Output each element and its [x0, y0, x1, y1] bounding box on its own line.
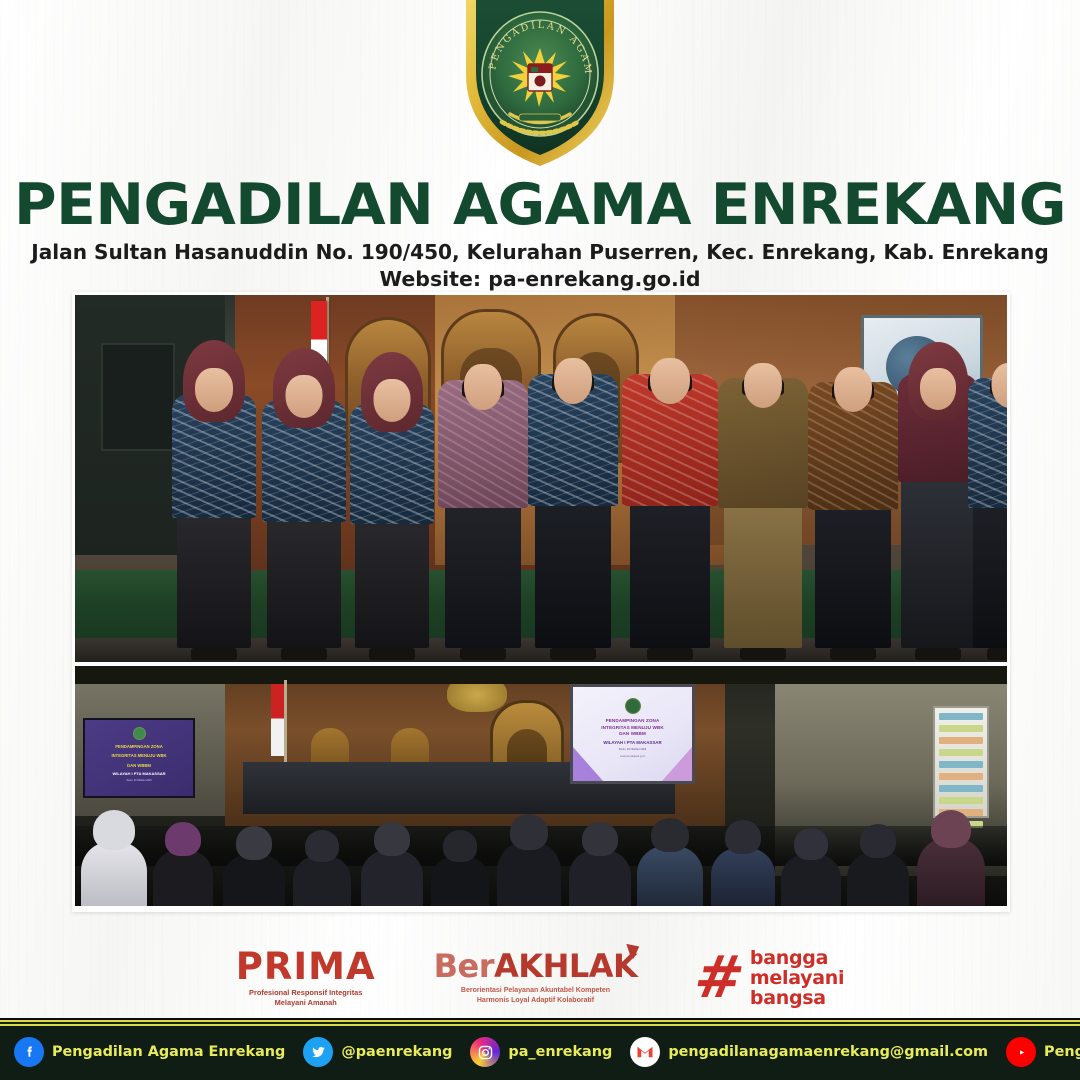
left-slide-line-4: WILAYAH I PTA MAKASSAR	[112, 771, 165, 776]
prima-logo: PRIMA Profesional Responsif Integritas M…	[236, 948, 376, 1008]
footer-label-facebook: Pengadilan Agama Enrekang	[52, 1044, 285, 1060]
photo-collage-frame: PENDAMPINGAN ZONA INTEGRITAS MENUJU WBK …	[72, 292, 1010, 912]
court-seal-icon	[133, 727, 146, 740]
left-slide-line-1: PENDAMPINGAN ZONA	[115, 744, 162, 749]
footer-item-twitter[interactable]: @paenrekang	[303, 1037, 452, 1067]
person	[621, 348, 719, 648]
partner-logos-row: PRIMA Profesional Responsif Integritas M…	[0, 940, 1080, 1016]
footer-label-email: pengadilanagamaenrekang@gmail.com	[668, 1044, 988, 1060]
berakhlak-prefix: Ber	[434, 947, 494, 985]
footer-item-email[interactable]: pengadilanagamaenrekang@gmail.com	[630, 1037, 988, 1067]
bangga-melayani-bangsa-logo: # bangga melayani bangsa	[695, 948, 844, 1008]
person	[807, 356, 899, 648]
person	[527, 348, 619, 648]
header-block: PENGADILAN AGAMA ENREKANG Jalan Sultan H…	[0, 176, 1080, 291]
youtube-icon[interactable]	[1006, 1037, 1036, 1067]
slide-line-5: Senin, 30 Oktober 2023	[619, 748, 646, 751]
page-title: PENGADILAN AGAMA ENREKANG	[0, 176, 1080, 234]
social-footer-bar: Pengadilan Agama Enrekang @paenrekang pa…	[0, 1018, 1080, 1080]
audience	[75, 788, 1007, 906]
seminar-photo: PENDAMPINGAN ZONA INTEGRITAS MENUJU WBK …	[75, 666, 1007, 906]
indonesia-flag-icon	[271, 684, 284, 756]
left-display-screen: PENDAMPINGAN ZONA INTEGRITAS MENUJU WBK …	[83, 718, 195, 798]
footer-label-instagram: pa_enrekang	[508, 1044, 612, 1060]
poster-canvas: PENGADILAN AGAMA ENREKANG PENGADILAN AGA…	[0, 0, 1080, 1080]
left-slide-line-5: Senin, 30 Oktober 2023	[126, 779, 151, 782]
footer-stripe-divider	[0, 1018, 1080, 1028]
person	[349, 376, 435, 648]
person	[717, 350, 809, 648]
footer-item-youtube[interactable]: Pengadilan Agama Enrekang	[1006, 1037, 1080, 1067]
left-slide-line-3: DAN WBBM	[127, 763, 151, 768]
org-website: Website: pa-enrekang.go.id	[0, 267, 1080, 291]
slide-line-4: WILAYAH I PTA MAKASSAR	[603, 740, 661, 745]
facebook-icon[interactable]	[14, 1037, 44, 1067]
gmail-icon[interactable]	[630, 1037, 660, 1067]
person	[437, 354, 529, 648]
prima-tagline-1: Profesional Responsif Integritas	[236, 988, 376, 998]
bangga-line-3: bangsa	[750, 988, 844, 1008]
footer-label-youtube: Pengadilan Agama Enrekang	[1044, 1044, 1080, 1060]
org-address: Jalan Sultan Hasanuddin No. 190/450, Kel…	[11, 240, 1069, 264]
slide-line-2: INTEGRITAS MENUJU WBK	[601, 725, 664, 731]
slide-line-1: PENDAMPINGAN ZONA	[606, 718, 660, 724]
projector-screen: PENDAMPINGAN ZONA INTEGRITAS MENUJU WBK …	[570, 684, 695, 784]
court-seal-icon	[625, 698, 641, 714]
person	[171, 364, 257, 648]
group-photo	[75, 295, 1007, 662]
instagram-icon[interactable]	[470, 1037, 500, 1067]
person	[261, 372, 347, 648]
slide-line-3: DAN WBBM	[619, 731, 646, 737]
bangga-line-2: melayani	[750, 968, 844, 988]
left-slide-line-2: INTEGRITAS MENUJU WBK	[111, 753, 166, 758]
berakhlak-main: AKHLAK	[494, 947, 637, 985]
berakhlak-logo: BerAKHLAK Berorientasi Pelayanan Akuntab…	[434, 950, 638, 1006]
twitter-icon[interactable]	[303, 1037, 333, 1067]
slide-footer: www.pta-makassar.go.id	[620, 756, 645, 758]
footer-label-twitter: @paenrekang	[341, 1044, 452, 1060]
berakhlak-tagline-2: Harmonis Loyal Adaptif Kolaboratif	[434, 996, 638, 1006]
hash-icon: #	[692, 954, 748, 1002]
bangga-line-1: bangga	[750, 948, 844, 968]
prima-tagline-2: Melayani Amanah	[236, 998, 376, 1008]
footer-item-instagram[interactable]: pa_enrekang	[470, 1037, 612, 1067]
berakhlak-tagline-1: Berorientasi Pelayanan Akuntabel Kompete…	[434, 986, 638, 996]
prima-wordmark: PRIMA	[236, 945, 376, 988]
person	[967, 352, 1007, 648]
footer-item-facebook[interactable]: Pengadilan Agama Enrekang	[14, 1037, 285, 1067]
court-crest-icon: PENGADILAN AGAMA ENREKANG	[452, 0, 628, 170]
